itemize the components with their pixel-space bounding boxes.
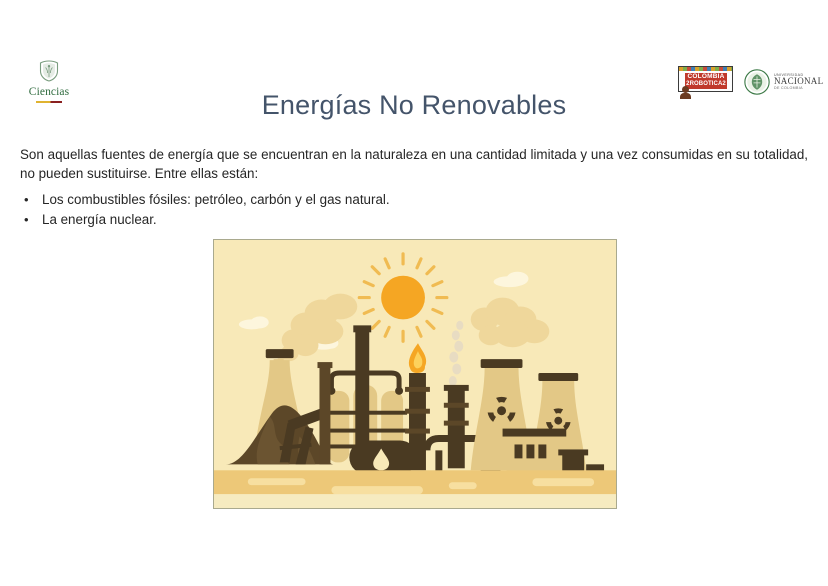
faculty-crest-icon bbox=[37, 60, 61, 82]
universidad-nacional-logo: UNIVERSIDAD NACIONAL DE COLOMBIA bbox=[744, 69, 810, 95]
list-item: • La energía nuclear. bbox=[20, 210, 620, 230]
bullet-marker-icon: • bbox=[24, 210, 29, 230]
unal-logo-bottom-text: DE COLOMBIA bbox=[774, 87, 823, 91]
header-logo-row: COLOMBIA 2ROBOTICA2 UNIVERSIDAD NACIONAL… bbox=[674, 66, 810, 98]
unal-logo-text: UNIVERSIDAD NACIONAL DE COLOMBIA bbox=[774, 74, 823, 91]
list-item-label: La energía nuclear. bbox=[42, 212, 157, 227]
unal-seal-icon bbox=[744, 69, 770, 95]
colombia-logo-line1: COLOMBIA bbox=[685, 73, 727, 81]
non-renewable-energy-illustration bbox=[213, 239, 617, 509]
bullet-list: • Los combustibles fósiles: petróleo, ca… bbox=[20, 190, 620, 229]
colombia-logo-line2: 2ROBOTICA2 bbox=[685, 81, 727, 89]
bullet-marker-icon: • bbox=[24, 190, 29, 210]
list-item-label: Los combustibles fósiles: petróleo, carb… bbox=[42, 192, 390, 207]
list-item: • Los combustibles fósiles: petróleo, ca… bbox=[20, 190, 620, 210]
industry-scene-svg bbox=[214, 240, 616, 508]
colombia-2robotica2-logo: COLOMBIA 2ROBOTICA2 bbox=[674, 66, 736, 98]
colombia-logo-text: COLOMBIA 2ROBOTICA2 bbox=[685, 73, 727, 89]
colombia-logo-colorbar bbox=[679, 67, 732, 71]
intro-paragraph: Son aquellas fuentes de energía que se e… bbox=[20, 145, 808, 183]
slide-canvas: Ciencias Energías No Renovables COLOMBIA… bbox=[0, 0, 828, 586]
ground-foreground-strip bbox=[214, 494, 616, 508]
colombia-logo-figure-icon bbox=[680, 86, 691, 98]
